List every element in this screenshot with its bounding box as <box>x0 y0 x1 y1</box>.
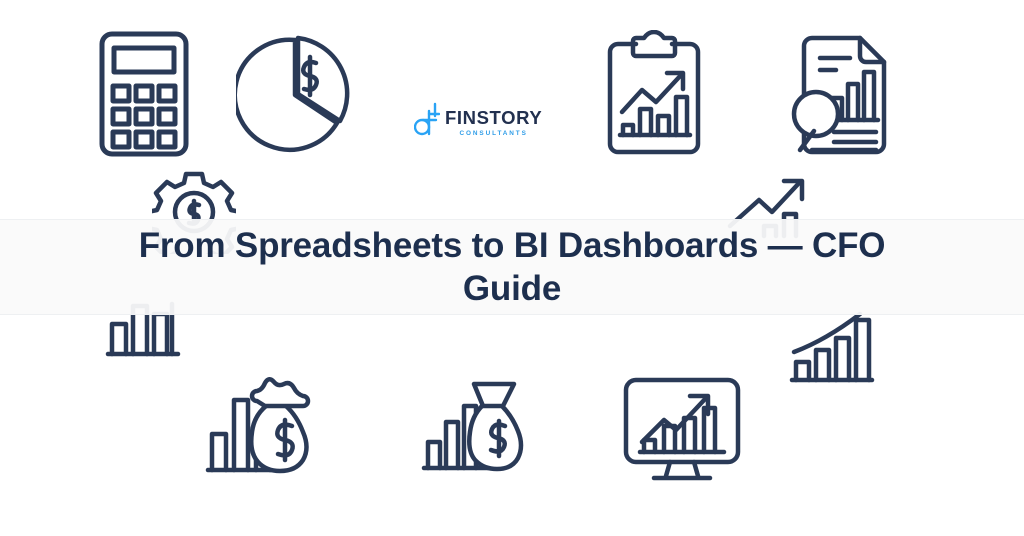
document-magnifier-chart-icon <box>782 32 892 158</box>
monitor-growth-chart-icon <box>620 376 744 486</box>
brand-name: FINSTORY <box>445 108 542 128</box>
pie-chart-dollar-icon <box>236 32 354 158</box>
page-title: From Spreadsheets to BI Dashboards — CFO… <box>112 224 912 310</box>
title-banner: From Spreadsheets to BI Dashboards — CFO… <box>0 219 1024 315</box>
money-bag-bars-large-icon <box>204 372 322 484</box>
brand-logo: FINSTORY CONSULTANTS <box>414 96 544 144</box>
calculator-icon <box>98 30 190 158</box>
brand-wordmark: FINSTORY CONSULTANTS <box>445 102 542 139</box>
money-bag-bars-small-icon <box>420 376 528 480</box>
clipboard-growth-chart-icon <box>604 30 704 158</box>
hero-banner-image: FINSTORY CONSULTANTS From Spreadsheets t… <box>0 0 1024 536</box>
finstory-monogram-icon <box>414 101 440 139</box>
brand-tagline: CONSULTANTS <box>445 129 542 139</box>
bar-chart-curve-icon <box>786 310 878 388</box>
